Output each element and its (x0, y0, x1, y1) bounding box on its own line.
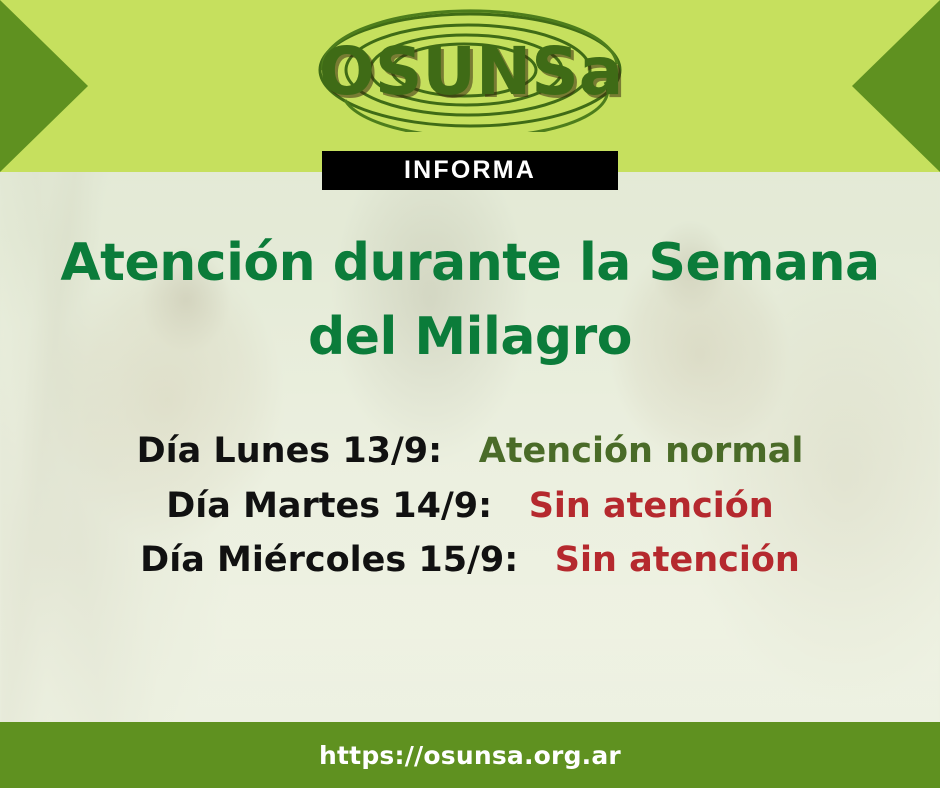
svg-text:OSUNSa: OSUNSa (319, 33, 624, 110)
poster: OSUNSa OSUNSa INFORMA Atención durante l… (0, 0, 940, 788)
header-band: OSUNSa OSUNSa (0, 0, 940, 172)
website-url-link[interactable]: https://osunsa.org.ar (319, 741, 621, 770)
schedule-day-label: Día Miércoles 15/9: (140, 540, 518, 580)
schedule-day-label: Día Lunes 13/9: (137, 431, 443, 471)
schedule-item: Día Miércoles 15/9: Sin atención (0, 533, 940, 588)
status-badge: Sin atención (555, 540, 800, 580)
status-badge: Atención normal (479, 431, 804, 471)
schedule-item: Día Martes 14/9: Sin atención (0, 479, 940, 534)
informa-label: INFORMA (404, 156, 536, 185)
main-content: Atención durante la Semana del Milagro D… (0, 172, 940, 722)
chevron-left-shape-icon (852, 0, 940, 172)
chevron-right-shape-icon (0, 0, 88, 172)
schedule-list: Día Lunes 13/9: Atención normal Día Mart… (0, 424, 940, 588)
schedule-day-label: Día Martes 14/9: (166, 486, 492, 526)
page-title-line-1: Atención durante la Semana (0, 227, 940, 301)
page-title: Atención durante la Semana del Milagro (0, 227, 940, 375)
page-title-line-2: del Milagro (0, 301, 940, 375)
footer-band: https://osunsa.org.ar (0, 722, 940, 788)
informa-banner: INFORMA (322, 151, 618, 190)
status-badge: Sin atención (529, 486, 774, 526)
schedule-item: Día Lunes 13/9: Atención normal (0, 424, 940, 479)
osunsa-logo: OSUNSa OSUNSa (305, 8, 635, 132)
